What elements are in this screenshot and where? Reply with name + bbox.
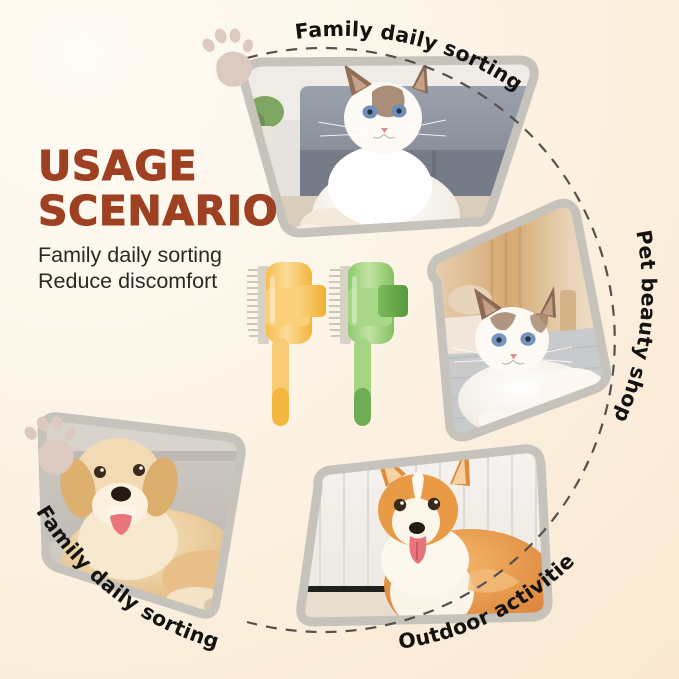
brush-bristles-orange: [247, 266, 269, 344]
ring-label-right: Pet beauty shop: [609, 228, 661, 426]
infographic-canvas: Family daily sorting Pet beauty shop Out…: [0, 0, 679, 679]
segment-layer: Family daily sorting Pet beauty shop Out…: [0, 0, 679, 679]
segment-bottom-left[interactable]: [30, 405, 260, 626]
product-brush-orange[interactable]: [247, 262, 326, 426]
brush-bristles-green: [329, 266, 351, 344]
product-brush-green[interactable]: [329, 262, 408, 426]
segment-right[interactable]: [420, 195, 620, 450]
